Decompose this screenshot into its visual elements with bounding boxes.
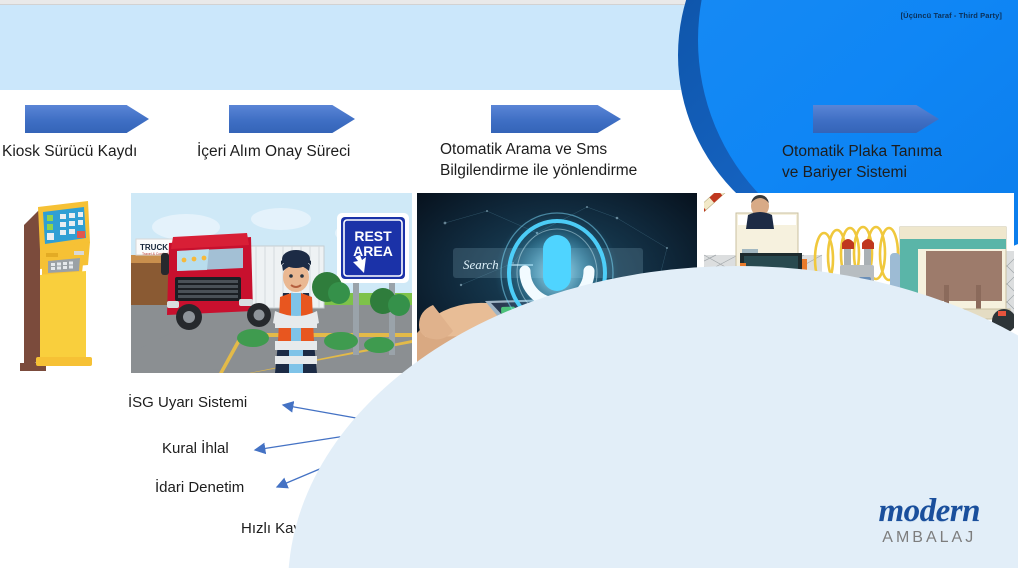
search-placeholder-text: Search [463, 257, 499, 272]
mindmap-node-idari-denetim[interactable]: İdari Denetim [155, 479, 244, 496]
kiosk-svg [10, 195, 115, 375]
header-band: [Üçüncü Taraf - Third Party] [0, 5, 1018, 90]
company-logo: modern AMBALAJ [878, 494, 980, 548]
logo-wordmark: modern [878, 494, 980, 528]
process-arrow-1[interactable] [25, 105, 149, 133]
truck-stop-illustration: TRUCK STOP Travel & Comfort [131, 193, 412, 373]
process-arrow-2[interactable] [229, 105, 355, 133]
rest-sign-line1: REST [354, 228, 392, 244]
slide-canvas: [Üçüncü Taraf - Third Party] Kiosk Sürüc… [0, 0, 1018, 576]
process-label-1: Kiosk Sürücü Kaydı [2, 141, 137, 162]
process-label-3: Otomatik Arama ve Sms Bilgilendirme ile … [440, 139, 637, 181]
kiosk-illustration [10, 195, 115, 375]
mindmap-node-isg-uyari-sistemi[interactable]: İSG Uyarı Sistemi [128, 394, 247, 411]
logo-subtitle: AMBALAJ [878, 528, 980, 548]
bottom-edge-strip [0, 568, 1018, 576]
third-party-note: [Üçüncü Taraf - Third Party] [901, 11, 1002, 20]
process-label-4: Otomatik Plaka Tanıma ve Bariyer Sistemi [782, 141, 942, 183]
truck-stop-svg: TRUCK STOP Travel & Comfort [131, 193, 412, 373]
process-label-2: İçeri Alım Onay Süreci [197, 141, 350, 162]
process-arrow-3[interactable] [491, 105, 621, 133]
process-arrow-4[interactable] [813, 105, 939, 133]
mindmap-node-kural-ihlal[interactable]: Kural İhlal [162, 440, 229, 457]
